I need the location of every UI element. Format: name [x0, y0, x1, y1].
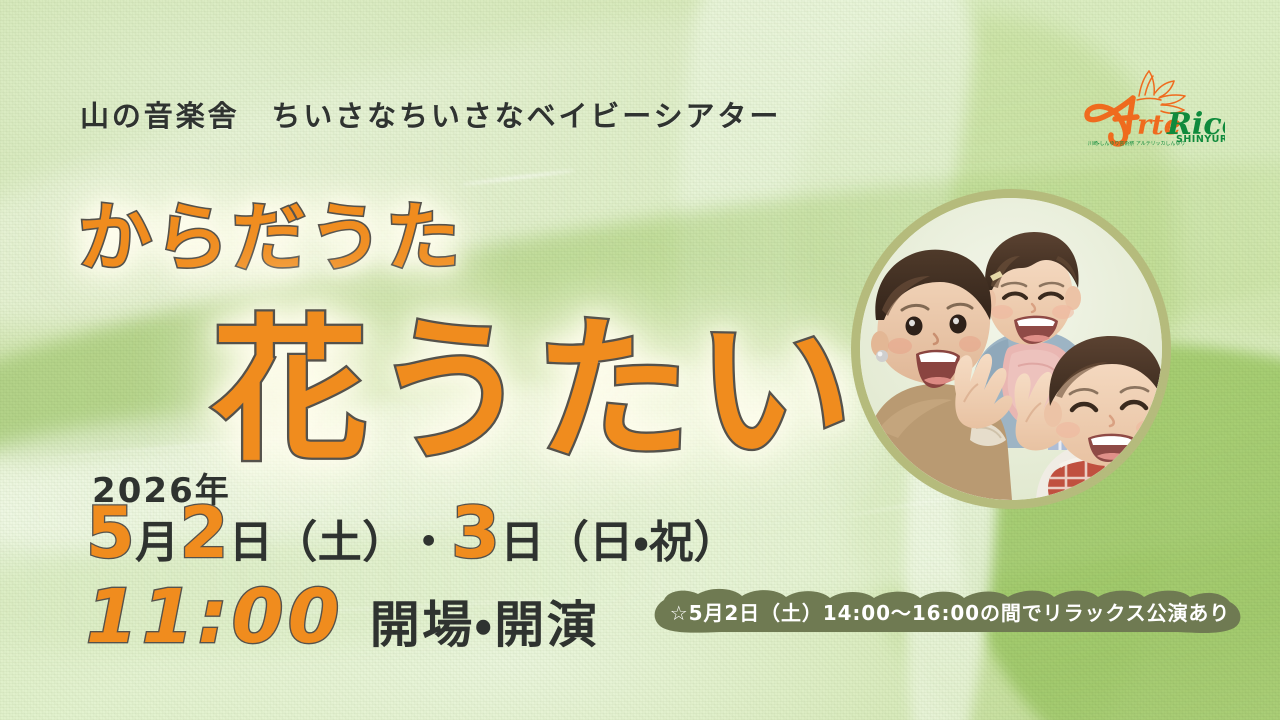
- date-month-label: 月: [135, 506, 179, 570]
- babies-photo-image: [860, 198, 1162, 500]
- poster-canvas: 山の音楽舎 ちいさなちいさなベイビーシアター: [0, 0, 1280, 720]
- date-separator: ・: [407, 506, 451, 570]
- event-time-words: 開場・開演: [370, 585, 600, 657]
- date-day1-label: 日（土）: [229, 506, 407, 570]
- main-title-hanautai: 花うたい: [212, 264, 858, 490]
- relax-performance-note: ☆5月2日（土）14:00〜16:00の間でリラックス公演あり: [650, 588, 1250, 634]
- event-time-clock: 11:00: [86, 580, 344, 654]
- header-producer-line: 山の音楽舎 ちいさなちいさなベイビーシアター: [80, 93, 781, 135]
- artericca-logo: rte Ricca SHINYURI 川崎・しんゆり芸術祭 アルテリッカしんゆり: [1075, 62, 1225, 150]
- event-date-line: 5 月 2 日（土） ・ 3 日（日・祝）: [86, 500, 738, 570]
- date-day2-number: 3: [451, 500, 500, 567]
- babies-photo-circle: [851, 189, 1171, 509]
- logo-fine-print: 川崎・しんゆり芸術祭 アルテリッカしんゆり: [1088, 141, 1211, 148]
- date-month-number: 5: [86, 500, 135, 567]
- relax-performance-banner: ☆5月2日（土）14:00〜16:00の間でリラックス公演あり: [650, 588, 1250, 634]
- date-day1-number: 2: [180, 500, 229, 567]
- date-day2-label: 日（日・祝）: [500, 506, 738, 570]
- event-time-line: 11:00 開場・開演: [86, 580, 599, 657]
